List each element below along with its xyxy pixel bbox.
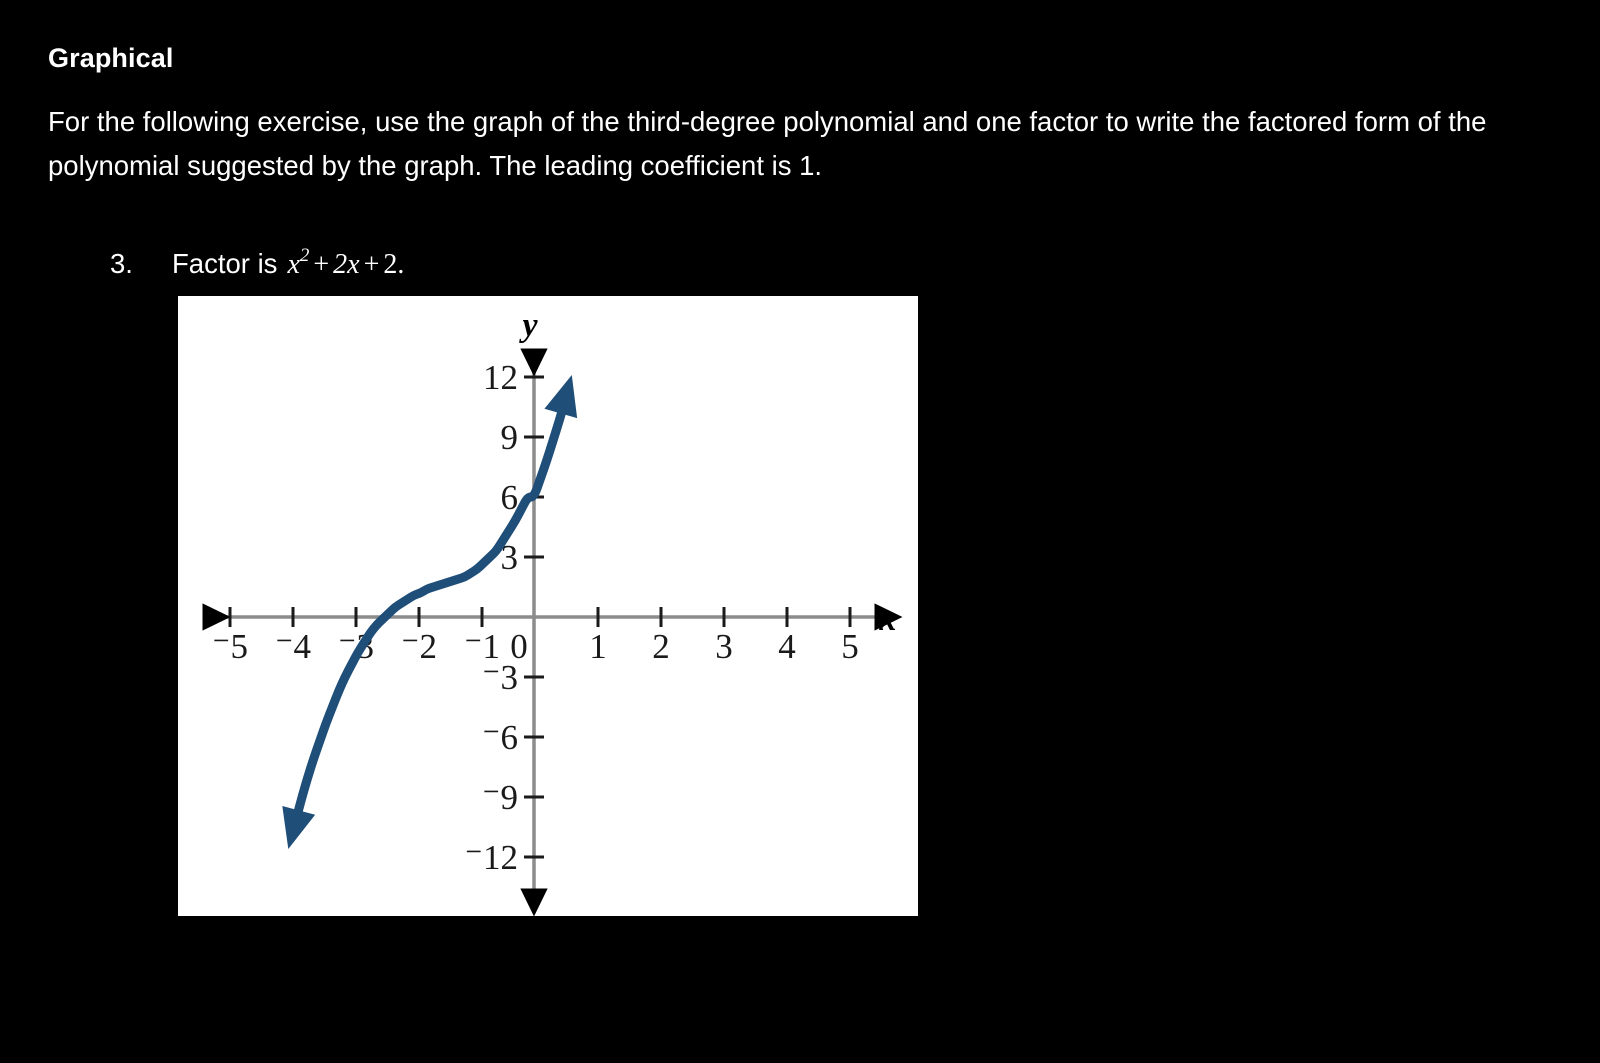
y-tick-label: ⁻6 bbox=[482, 718, 518, 757]
x-tick-label: 2 bbox=[652, 627, 670, 666]
factor-period: . bbox=[397, 249, 404, 280]
y-tick-label: 9 bbox=[501, 418, 519, 457]
x-tick-label: 1 bbox=[589, 627, 607, 666]
graph-figure-panel: ⁻5 ⁻4 ⁻3 ⁻2 ⁻1 0 1 2 3 4 5 x bbox=[178, 296, 918, 916]
problem-number: 3. bbox=[110, 249, 172, 279]
x-tick-label: 3 bbox=[715, 627, 733, 666]
factor-base-variable: x bbox=[287, 249, 299, 280]
x-tick-label: ⁻5 bbox=[212, 627, 248, 666]
y-tick-label: 12 bbox=[483, 358, 518, 397]
problem-prefix: Factor is bbox=[172, 249, 277, 279]
x-tick-label: ⁻4 bbox=[275, 627, 311, 666]
factor-second-term: 2x bbox=[333, 249, 359, 280]
factor-third-term: 2 bbox=[383, 249, 397, 280]
x-tick-label: 4 bbox=[778, 627, 796, 666]
y-tick-label: ⁻9 bbox=[482, 778, 518, 817]
y-tick-label: ⁻3 bbox=[482, 658, 518, 697]
factor-plus-operator-2: + bbox=[360, 249, 384, 280]
factor-plus-operator-1: + bbox=[309, 249, 333, 280]
instructions-paragraph: For the following exercise, use the grap… bbox=[48, 100, 1488, 188]
problem-line: 3.Factor isx2+2x+2. bbox=[110, 248, 404, 281]
page-title: Graphical bbox=[48, 42, 173, 74]
x-tick-label: ⁻2 bbox=[401, 627, 437, 666]
factor-exponent: 2 bbox=[300, 245, 310, 266]
slide-page: Graphical For the following exercise, us… bbox=[0, 0, 1600, 1063]
y-tick-label: ⁻12 bbox=[465, 838, 518, 877]
x-tick-label: 5 bbox=[841, 627, 859, 666]
coordinate-plane-svg: ⁻5 ⁻4 ⁻3 ⁻2 ⁻1 0 1 2 3 4 5 x bbox=[178, 296, 918, 916]
x-axis-label: x bbox=[879, 601, 897, 638]
